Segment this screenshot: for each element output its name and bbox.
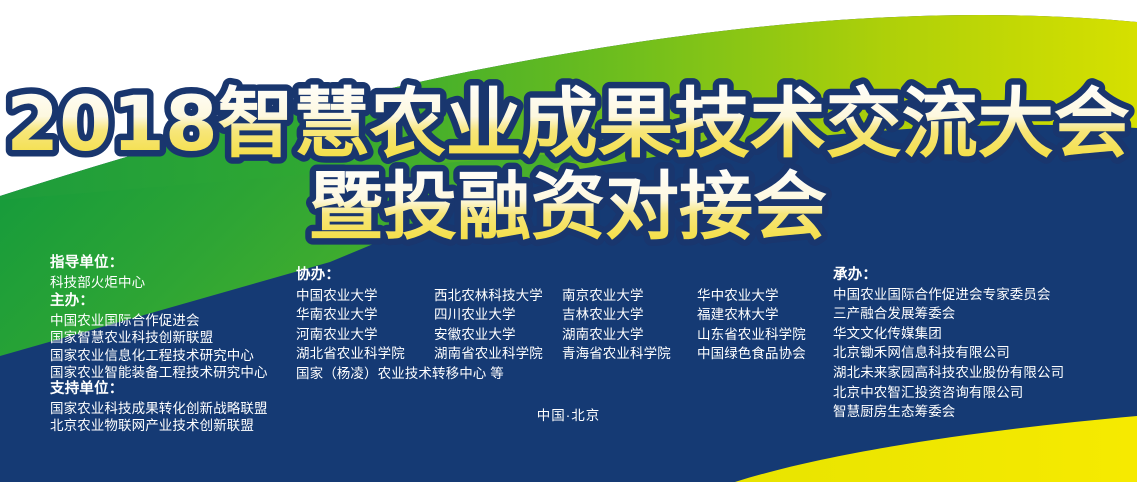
support-unit-header: 支持单位： [50,380,268,399]
organizer-item: 中国农业国际合作促进会专家委员会 [833,286,1064,304]
co-organizer-item: 湖北省农业科学院 [296,345,434,363]
co-organizer-item: 中国农业大学 [296,287,434,305]
co-organizer-item: 青海省农业科学院 [562,345,697,363]
co-organizer-item: 四川农业大学 [434,306,562,324]
co-organizer-last-item: 国家（杨凌）农业技术转移中心 等 [296,365,822,383]
organizer-header: 承办： [833,266,1064,285]
organizer-item: 湖北未来家园高科技农业股份有限公司 [833,364,1064,382]
co-organizer-item: 华中农业大学 [697,287,822,305]
organizer-item: 北京锄禾网信息科技有限公司 [833,344,1064,362]
co-organizer-grid: 中国农业大学 西北农林科技大学 南京农业大学 华中农业大学 华南农业大学 四川农… [296,287,822,363]
poster-banner: 2018智慧农业成果技术交流大会 2018智慧农业成果技术交流大会 暨投融资对接… [0,0,1137,482]
guidance-unit-item: 科技部火炬中心 [50,274,145,292]
location-label: 中国·北京 [0,404,1137,424]
co-organizer-item: 河南农业大学 [296,326,434,344]
co-organizer-item: 吉林农业大学 [562,306,697,324]
co-organizer-item: 华南农业大学 [296,306,434,324]
host-item: 国家农业信息化工程技术研究中心 [50,347,268,365]
co-organizer-header: 协办： [296,266,822,285]
co-organizer-item: 山东省农业科学院 [697,326,822,344]
host-item: 国家智慧农业科技创新联盟 [50,329,268,347]
organizer-item: 北京中农智汇投资咨询有限公司 [833,384,1064,402]
organizer-item: 华文文化传媒集团 [833,325,1064,343]
guidance-unit-header: 指导单位： [50,254,145,273]
co-organizer-group: 协办： 中国农业大学 西北农林科技大学 南京农业大学 华中农业大学 华南农业大学… [296,266,822,383]
organizer-item: 三产融合发展筹委会 [833,305,1064,323]
co-organizer-item: 湖南省农业科学院 [434,345,562,363]
co-organizer-item: 中国绿色食品协会 [697,345,822,363]
host-group: 主办： 中国农业国际合作促进会 国家智慧农业科技创新联盟 国家农业信息化工程技术… [50,292,268,382]
co-organizer-item: 安徽农业大学 [434,326,562,344]
co-organizer-item: 西北农林科技大学 [434,287,562,305]
co-organizer-item: 南京农业大学 [562,287,697,305]
co-organizer-item: 福建农林大学 [697,306,822,324]
host-item: 中国农业国际合作促进会 [50,312,268,330]
guidance-unit-group: 指导单位： 科技部火炬中心 [50,254,145,291]
organizer-group: 承办： 中国农业国际合作促进会专家委员会 三产融合发展筹委会 华文文化传媒集团 … [833,266,1064,423]
co-organizer-item: 湖南农业大学 [562,326,697,344]
host-header: 主办： [50,292,268,311]
